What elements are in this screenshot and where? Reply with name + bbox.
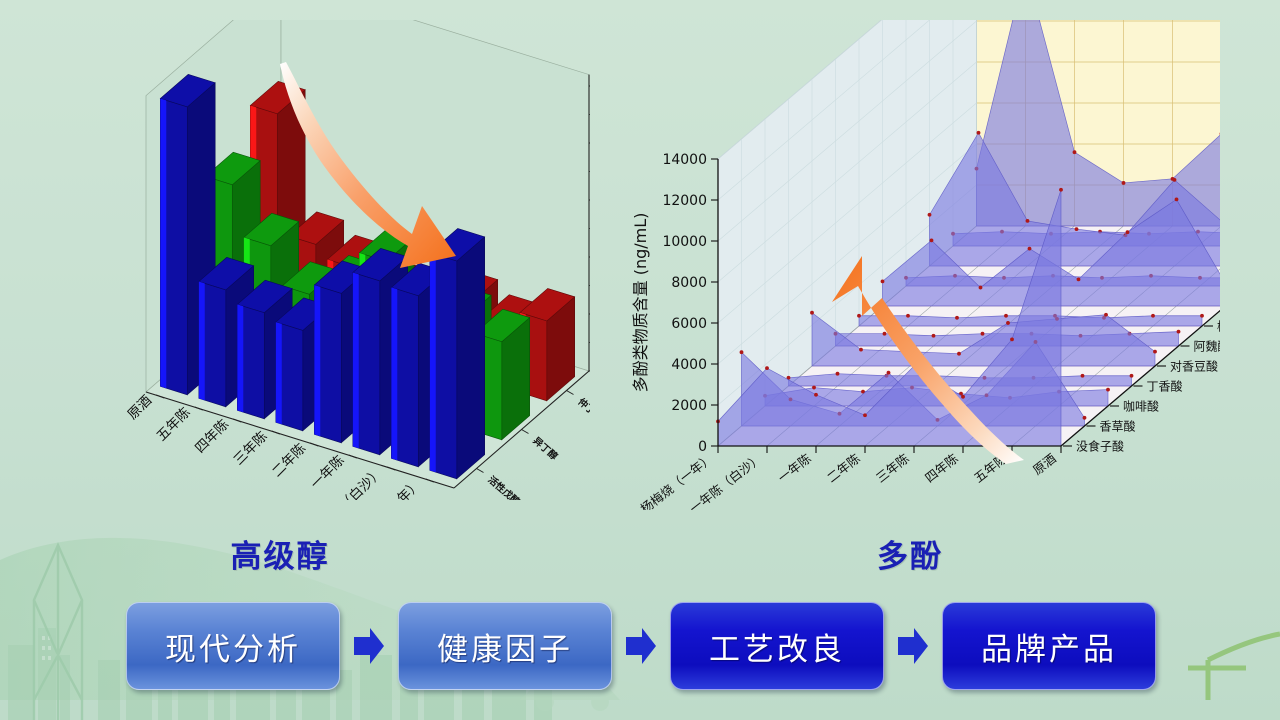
data-point: [1077, 277, 1081, 281]
data-point: [1026, 219, 1030, 223]
flow-step-label: 健康因子: [437, 624, 573, 669]
data-point: [932, 334, 936, 338]
z-tick-label: 活性戊醇和异戊醇: [486, 474, 552, 500]
data-point: [1104, 313, 1108, 317]
data-point: [1153, 350, 1157, 354]
data-point: [1173, 178, 1177, 182]
series-label: 丁香酸: [1147, 379, 1183, 394]
bridge-watermark: [1188, 634, 1280, 700]
data-point: [1006, 321, 1010, 325]
data-point: [928, 213, 932, 217]
data-point: [863, 413, 867, 417]
data-point: [881, 280, 885, 284]
left-chart-title: 高级醇: [0, 531, 560, 576]
data-point: [977, 131, 981, 135]
data-point: [981, 332, 985, 336]
x-tick-label: 三年陈: [873, 450, 912, 485]
y-axis-title: 多酚类物质含量 (ng/mL): [631, 213, 650, 393]
right-arrow-icon: [622, 624, 660, 668]
data-point: [1106, 388, 1110, 392]
data-point: [859, 348, 863, 352]
x-tick-label: 二年陈: [268, 439, 309, 480]
process-flow: 现代分析健康因子工艺改良品牌产品: [126, 598, 1156, 694]
series-label: 阿魏酸: [1194, 339, 1221, 354]
data-point: [906, 314, 910, 318]
data-point: [1122, 181, 1126, 185]
right-arrow-icon: [350, 624, 388, 668]
x-tick-label: 三年陈: [230, 427, 271, 468]
flow-step-3[interactable]: 工艺改良: [670, 602, 884, 690]
x-tick-label: 五年陈: [153, 403, 194, 444]
data-point: [814, 393, 818, 397]
right-arrow-icon: [894, 624, 932, 668]
data-point: [887, 371, 891, 375]
y-tick-label: 0: [698, 439, 707, 455]
data-point: [930, 239, 934, 243]
series-label: 槲皮素: [1217, 320, 1220, 334]
data-point: [810, 311, 814, 315]
data-point: [812, 386, 816, 390]
y-tick-label: 4000: [671, 357, 707, 373]
data-point: [1004, 314, 1008, 318]
y-tick-label: 2000: [671, 398, 707, 414]
y-tick-label: 14000: [662, 152, 707, 168]
y-tick-label: 12000: [662, 193, 707, 209]
series-label: 咖啡酸: [1123, 399, 1159, 414]
y-tick-label: 10000: [662, 234, 707, 250]
data-point: [857, 314, 861, 318]
data-point: [1200, 314, 1204, 318]
flow-step-1[interactable]: 现代分析: [126, 602, 340, 690]
y-tick-label: 6000: [671, 316, 707, 332]
data-point: [1151, 314, 1155, 318]
series-label: 香草酸: [1100, 419, 1136, 434]
data-point: [1075, 227, 1079, 231]
data-point: [955, 316, 959, 320]
right-chart-title: 多酚: [660, 531, 1160, 576]
data-point: [957, 352, 961, 356]
x-tick-label: 四年陈: [922, 450, 961, 485]
data-point: [1175, 198, 1179, 202]
flow-step-label: 品牌产品: [981, 624, 1117, 669]
x-tick-label: 二年陈: [824, 450, 863, 485]
data-point: [740, 350, 744, 354]
data-point: [1073, 150, 1077, 154]
data-point: [1081, 374, 1085, 378]
y-tick-label: 8000: [671, 275, 707, 291]
data-point: [836, 372, 840, 376]
data-point: [1177, 330, 1181, 334]
data-point: [961, 395, 965, 399]
data-point: [1028, 247, 1032, 251]
x-tick-label: 原酒: [1030, 451, 1059, 478]
higher-alcohols-3d-bar-svg: 原酒五年陈四年陈三年陈二年陈一年陈一年陈（白沙）杨梅烧（一年）异丁醇仲丁醇活性戊…: [50, 20, 590, 500]
flow-step-label: 现代分析: [165, 624, 301, 669]
series-label: 没食子酸: [1076, 439, 1124, 454]
flow-step-2[interactable]: 健康因子: [398, 602, 612, 690]
data-point: [765, 366, 769, 370]
series-label: 对香豆酸: [1170, 359, 1218, 374]
data-point: [1010, 338, 1014, 342]
data-point: [883, 332, 887, 336]
x-tick-label: 一年陈: [775, 450, 814, 485]
z-tick-label: 仲丁醇: [576, 396, 590, 424]
x-tick-label: 一年陈: [307, 451, 348, 492]
flow-step-4[interactable]: 品牌产品: [942, 602, 1156, 690]
polyphenols-3d-area-svg: 杨梅烧（一年）一年陈（白沙）一年陈二年陈三年陈四年陈五年陈原酒没食子酸香草酸咖啡…: [600, 20, 1220, 510]
data-point: [1130, 374, 1134, 378]
flow-step-label: 工艺改良: [709, 624, 845, 669]
data-point: [1059, 188, 1063, 192]
z-tick-label: 异丁醇: [531, 435, 561, 463]
higher-alcohols-chart: 原酒五年陈四年陈三年陈二年陈一年陈一年陈（白沙）杨梅烧（一年）异丁醇仲丁醇活性戊…: [50, 20, 590, 500]
data-point: [1083, 416, 1087, 420]
data-point: [1126, 230, 1130, 234]
polyphenols-chart: 杨梅烧（一年）一年陈（白沙）一年陈二年陈三年陈四年陈五年陈原酒没食子酸香草酸咖啡…: [600, 20, 1220, 510]
x-tick-label: 四年陈: [191, 415, 232, 456]
data-point: [979, 286, 983, 290]
bar-3d: [430, 228, 485, 478]
x-tick-label: 原酒: [125, 393, 155, 423]
slide-canvas: 原酒五年陈四年陈三年陈二年陈一年陈一年陈（白沙）杨梅烧（一年）异丁醇仲丁醇活性戊…: [0, 0, 1280, 720]
